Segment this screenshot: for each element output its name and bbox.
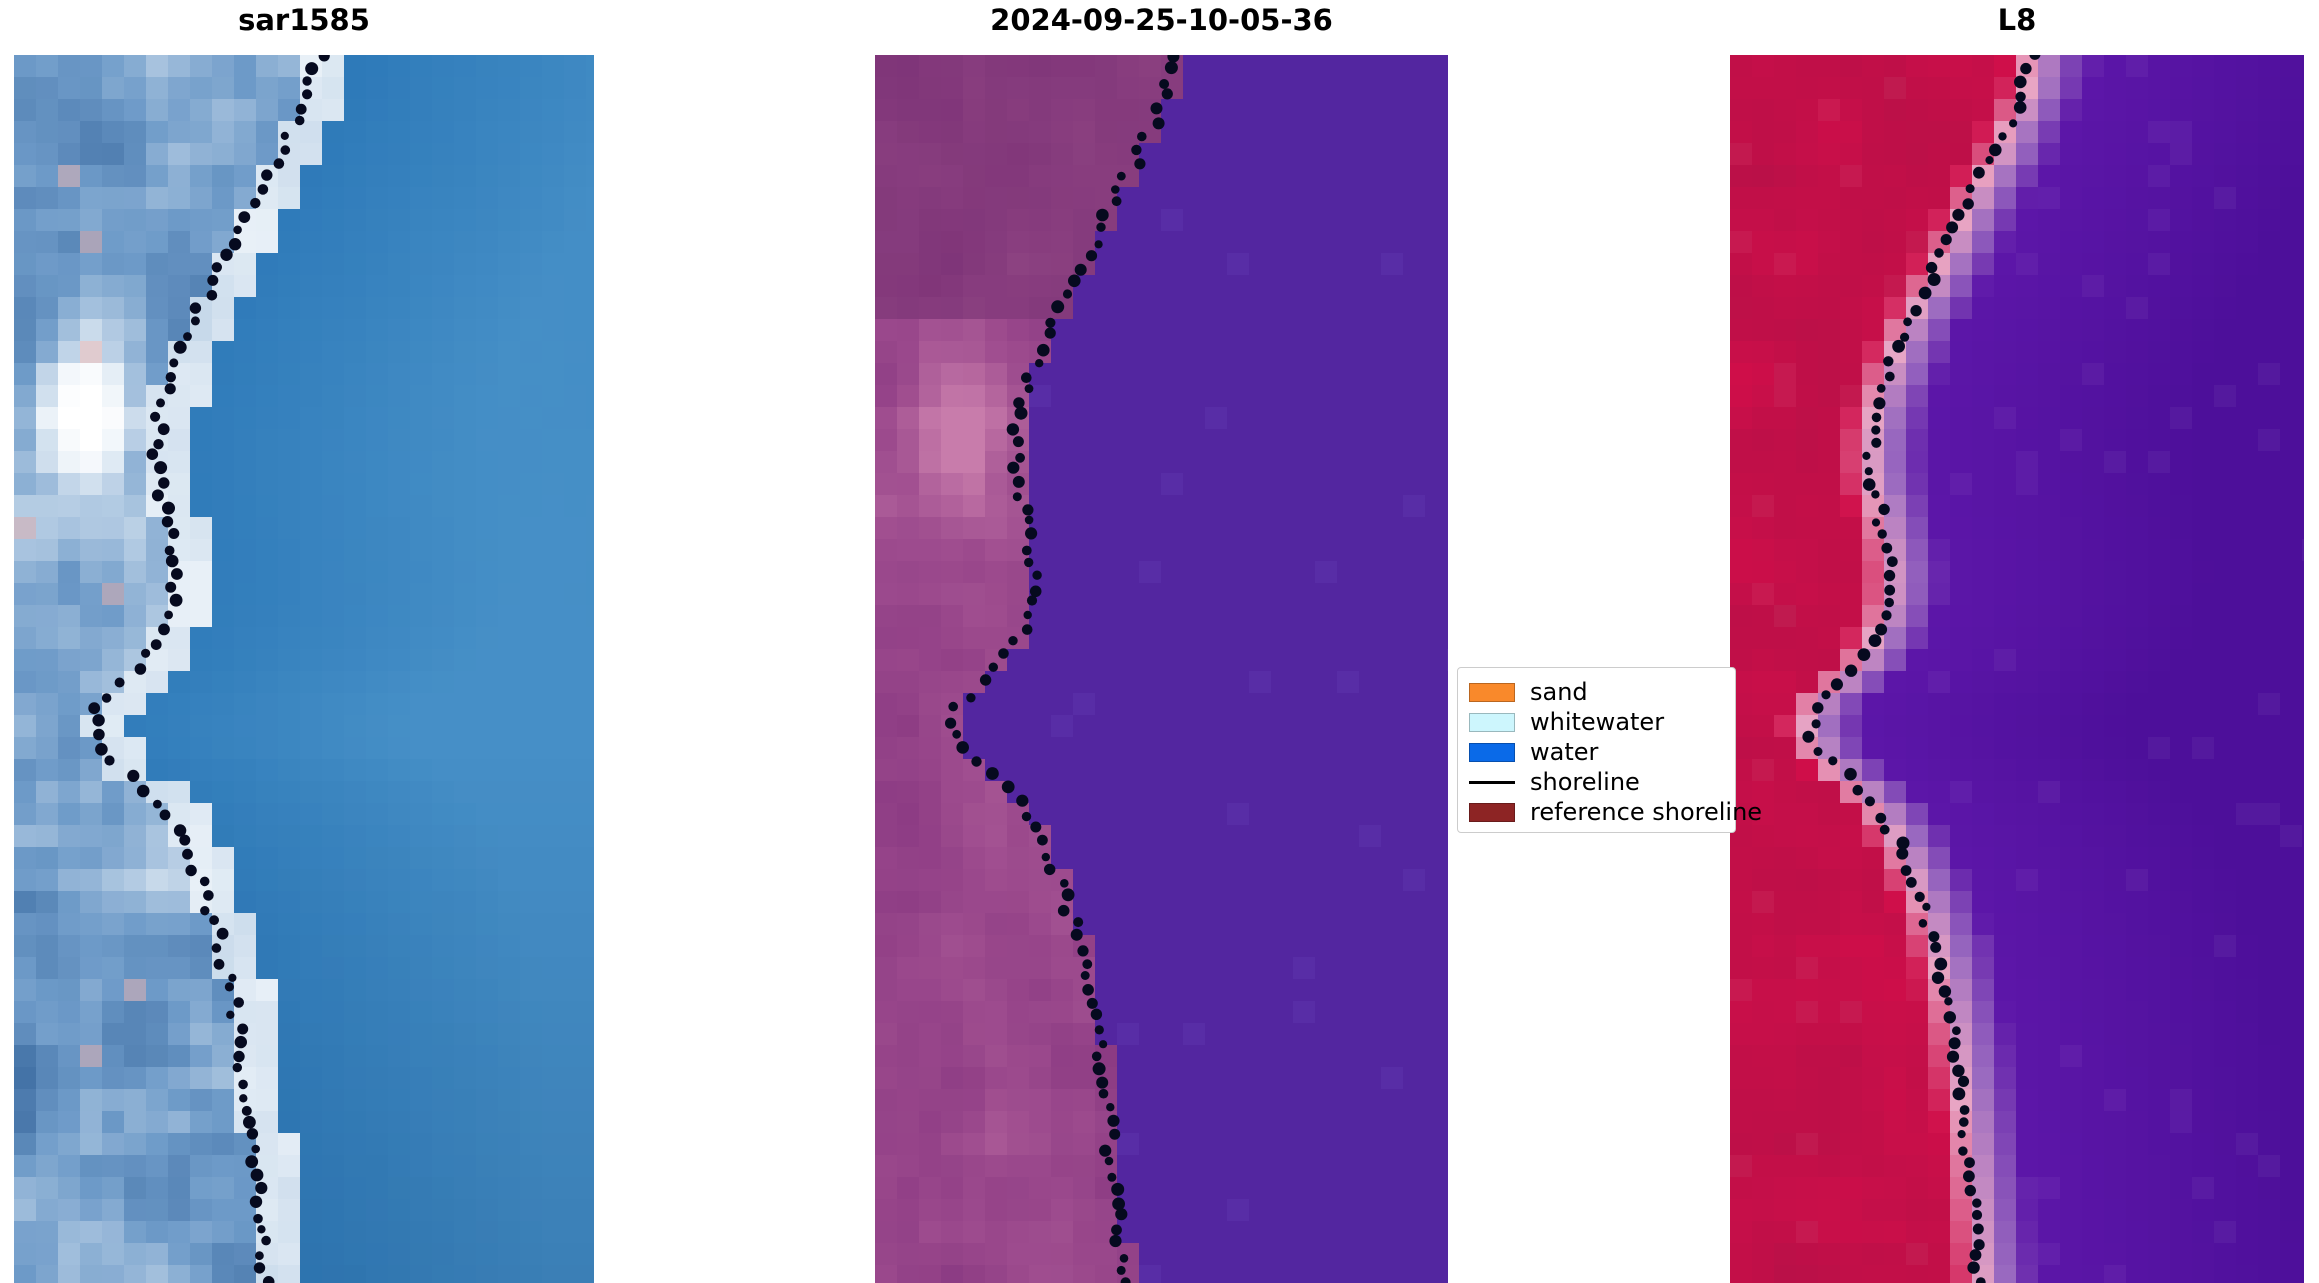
legend-item-reference-shoreline: reference shoreline [1469,797,1724,827]
image-panel-sar[interactable] [14,55,594,1283]
image-panel-classified[interactable] [875,55,1448,1283]
whitewater-color-swatch [1469,713,1515,732]
legend-item-sand: sand [1469,677,1724,707]
legend-item-shoreline: shoreline [1469,767,1724,797]
legend-label-shoreline: shoreline [1530,770,1640,794]
sand-color-swatch [1469,683,1515,702]
panel-title-classified: 2024-09-25-10-05-36 [875,6,1448,35]
l8-image [1730,55,2304,1283]
legend-item-whitewater: whitewater [1469,707,1724,737]
shoreline-line-swatch [1469,781,1515,784]
legend-label-whitewater: whitewater [1530,710,1664,734]
legend: sand whitewater water shoreline referenc… [1457,667,1736,833]
sar-image [14,55,594,1283]
legend-label-reference-shoreline: reference shoreline [1530,800,1762,824]
water-color-swatch [1469,743,1515,762]
panel-title-sar: sar1585 [14,6,594,35]
reference-shoreline-color-swatch [1469,803,1515,822]
panel-title-l8: L8 [1730,6,2304,35]
legend-label-water: water [1530,740,1598,764]
classified-image [875,55,1448,1283]
legend-item-water: water [1469,737,1724,767]
legend-label-sand: sand [1530,680,1588,704]
image-panel-l8[interactable] [1730,55,2304,1283]
